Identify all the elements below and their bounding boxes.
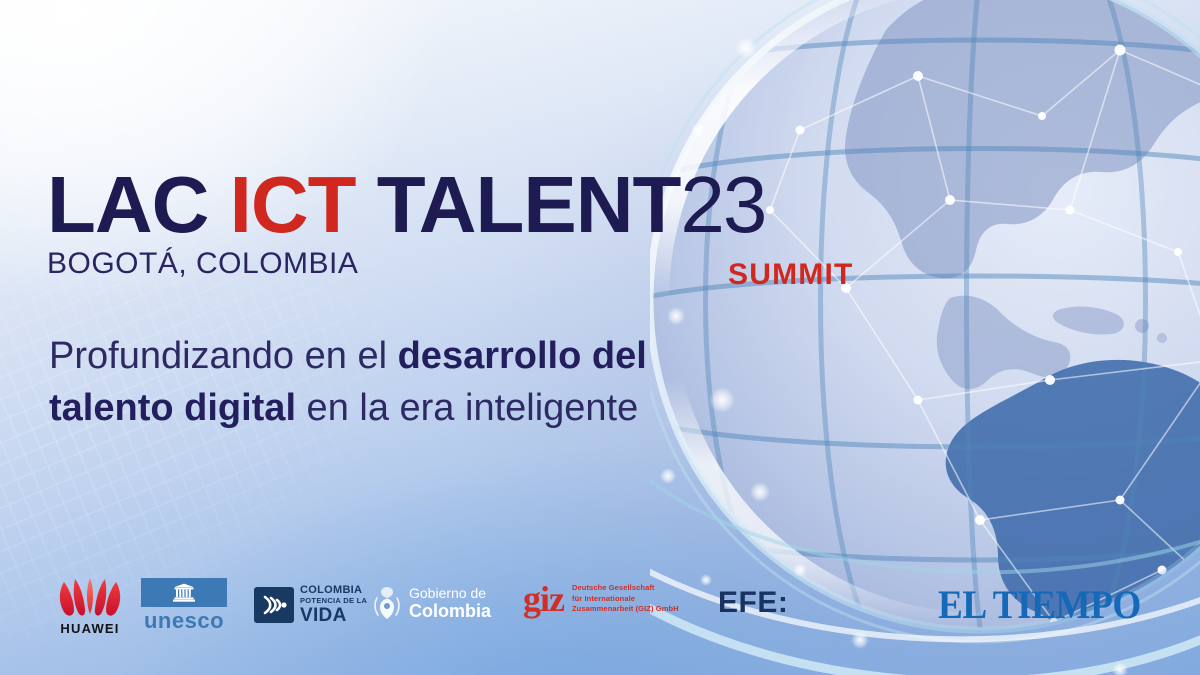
event-subtitle: Profundizando en el desarrollo del talen…: [49, 330, 809, 434]
huawei-wordmark: HUAWEI: [60, 621, 119, 636]
colombia-signal-arcs-icon: [254, 587, 294, 623]
giz-sub-line2: für Internationale: [572, 594, 679, 605]
subtitle-text-1: Profundizando en el: [49, 335, 398, 377]
giz-subtitle: Deutsche Gesellschaft für Internationale…: [572, 583, 679, 615]
logo-unesco: unesco: [141, 578, 227, 633]
unesco-wordmark: unesco: [144, 609, 224, 633]
logo-giz: giz Deutsche Gesellschaft für Internatio…: [523, 582, 679, 616]
logo-colombia-potencia: COLOMBIA POTENCIA DE LA VIDA: [254, 584, 367, 625]
gobierno-line1: Gobierno de: [409, 585, 491, 601]
event-title: LAC ICT TALENT23: [47, 168, 765, 242]
colombia-coat-of-arms-icon: [372, 584, 402, 622]
giz-sub-line3: Zusammenarbeit (GIZ) GmbH: [572, 604, 679, 615]
giz-wordmark: giz: [523, 582, 564, 616]
colombia-potencia-line1: COLOMBIA: [300, 584, 367, 596]
efe-wordmark: EFE:: [718, 588, 788, 618]
unesco-temple-icon: [171, 583, 197, 603]
logo-el-tiempo: EL TIEMPO: [938, 584, 1156, 626]
event-location: BOGOTÁ, COLOMBIA: [47, 248, 765, 280]
colombia-potencia-text: COLOMBIA POTENCIA DE LA VIDA: [300, 584, 367, 625]
sponsor-logo-bar: HUAWEI: [0, 570, 1200, 660]
gobierno-text: Gobierno de Colombia: [409, 585, 491, 621]
unesco-blue-box: [141, 578, 227, 607]
title-talent: TALENT: [377, 160, 681, 249]
subtitle-bold-2: talento digital: [49, 387, 296, 429]
subtitle-text-2: en la era inteligente: [296, 387, 638, 429]
event-banner: LAC ICT TALENT23 BOGOTÁ, COLOMBIA SUMMIT…: [0, 0, 1200, 675]
title-ict: ICT: [230, 160, 356, 249]
colombia-potencia-line3: VIDA: [300, 606, 367, 625]
logo-efe: EFE:: [718, 588, 788, 618]
huawei-flower-icon: [52, 578, 128, 618]
logo-huawei: HUAWEI: [52, 578, 128, 636]
logo-gobierno-colombia: Gobierno de Colombia: [372, 584, 491, 622]
title-lac: LAC: [47, 160, 208, 249]
gobierno-line2: Colombia: [409, 601, 491, 621]
subtitle-bold-1: desarrollo del: [398, 335, 647, 377]
summit-label: SUMMIT: [728, 258, 854, 292]
el-tiempo-wordmark: EL TIEMPO: [938, 584, 1141, 626]
giz-sub-line1: Deutsche Gesellschaft: [572, 583, 679, 594]
event-title-block: LAC ICT TALENT23 BOGOTÁ, COLOMBIA: [47, 168, 765, 280]
title-year: 23: [680, 160, 765, 249]
